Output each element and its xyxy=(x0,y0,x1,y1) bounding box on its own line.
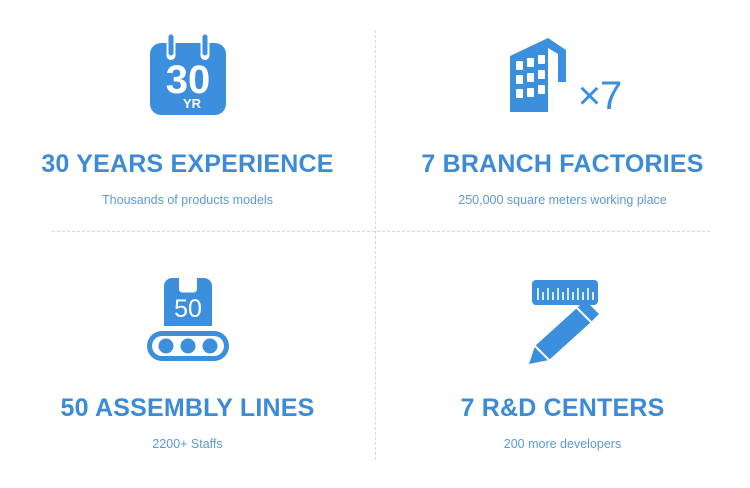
stat-subtitle: Thousands of products models xyxy=(102,194,273,207)
stat-title: 7 BRANCH FACTORIES xyxy=(421,152,703,177)
pencil-shape xyxy=(529,300,599,364)
stat-card-years-experience: 30 YR 30 YEARS EXPERIENCE Thousands of p… xyxy=(0,0,375,244)
stat-subtitle: 2200+ Staffs xyxy=(152,438,222,451)
ruler-pencil-icon-wrap xyxy=(515,264,611,376)
assembly-line-icon-wrap: 50 xyxy=(142,264,234,376)
stat-title: 7 R&D CENTERS xyxy=(460,396,664,421)
assembly-line-icon: 50 xyxy=(142,274,234,366)
building-icon-wrap: ×7 xyxy=(504,18,622,130)
building-with-multiplier: ×7 xyxy=(504,30,622,118)
stat-card-assembly-lines: 50 50 ASSEMBLY LINES 2200+ Staffs xyxy=(0,244,375,488)
stat-card-rnd-centers: 7 R&D CENTERS 200 more developers xyxy=(375,244,750,488)
stat-title: 30 YEARS EXPERIENCE xyxy=(41,152,333,177)
multiplier-label: ×7 xyxy=(578,76,622,116)
ruler-pencil-icon xyxy=(515,274,611,366)
stat-subtitle: 200 more developers xyxy=(504,438,621,451)
stat-card-branch-factories: ×7 7 BRANCH FACTORIES 250,000 square met… xyxy=(375,0,750,244)
building-icon xyxy=(504,30,576,118)
stat-title: 50 ASSEMBLY LINES xyxy=(61,396,315,421)
calendar-icon: 30 YR xyxy=(146,29,230,119)
infographic-stats-panel: 30 YR 30 YEARS EXPERIENCE Thousands of p… xyxy=(0,0,750,488)
svg-text:50: 50 xyxy=(174,295,202,323)
stat-subtitle: 250,000 square meters working place xyxy=(458,194,666,207)
calendar-icon-wrap: 30 YR xyxy=(146,18,230,130)
svg-text:YR: YR xyxy=(182,96,201,111)
